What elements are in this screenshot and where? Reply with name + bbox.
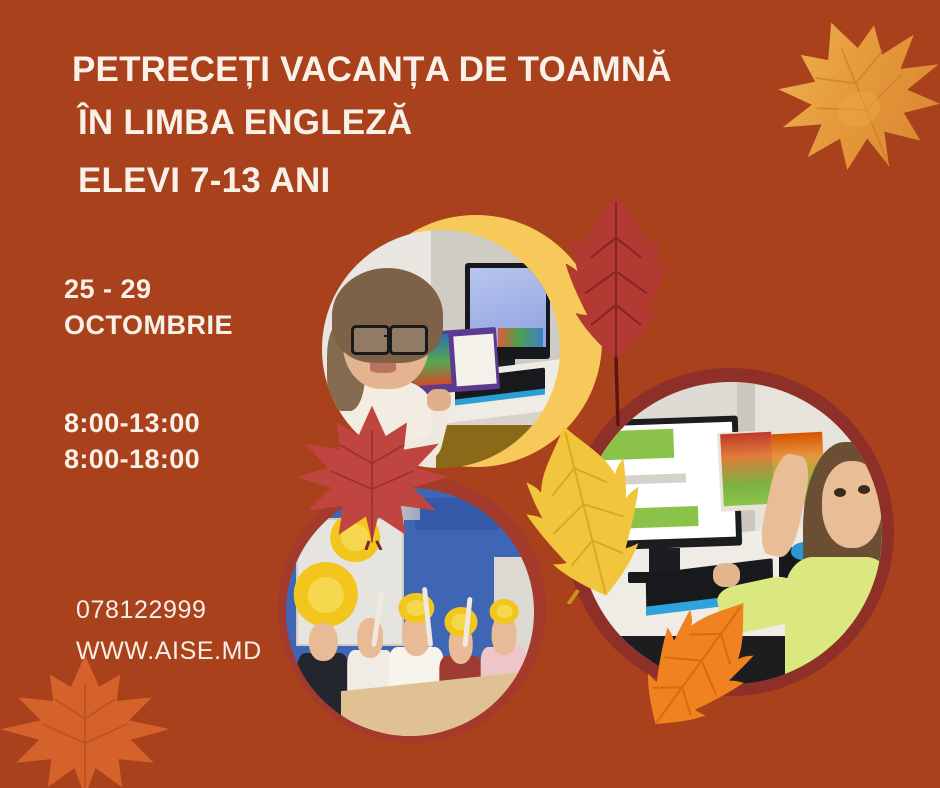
headline-block: PETRECEȚI VACANȚA DE TOAMNĂ ÎN LIMBA ENG…: [72, 44, 772, 208]
birch-leaf-dark-red-icon: [560, 192, 672, 430]
hours-option-1: 8:00-13:00: [64, 406, 200, 442]
date-range: 25 - 29: [64, 272, 233, 308]
headline-line-3: ELEVI 7-13 ANI: [72, 155, 772, 208]
contact-website[interactable]: WWW.AISE.MD: [76, 631, 262, 672]
maple-leaf-red-icon: [296, 398, 448, 550]
contact-block: 078122999 WWW.AISE.MD: [76, 590, 262, 671]
contact-phone[interactable]: 078122999: [76, 590, 262, 631]
hours-option-2: 8:00-18:00: [64, 442, 200, 478]
autumn-camp-poster: PETRECEȚI VACANȚA DE TOAMNĂ ÎN LIMBA ENG…: [0, 0, 940, 788]
date-month: OCTOMBRIE: [64, 308, 233, 344]
feather-leaf-orange-icon: [628, 586, 776, 734]
headline-line-2: ÎN LIMBA ENGLEZĂ: [72, 97, 772, 150]
headline-line-1: PETRECEȚI VACANȚA DE TOAMNĂ: [72, 44, 772, 97]
date-block: 25 - 29 OCTOMBRIE: [64, 272, 233, 344]
hours-block: 8:00-13:00 8:00-18:00: [64, 406, 200, 478]
birch-leaf-yellow-icon: [518, 418, 652, 604]
maple-leaf-top-right-icon: [778, 6, 940, 192]
